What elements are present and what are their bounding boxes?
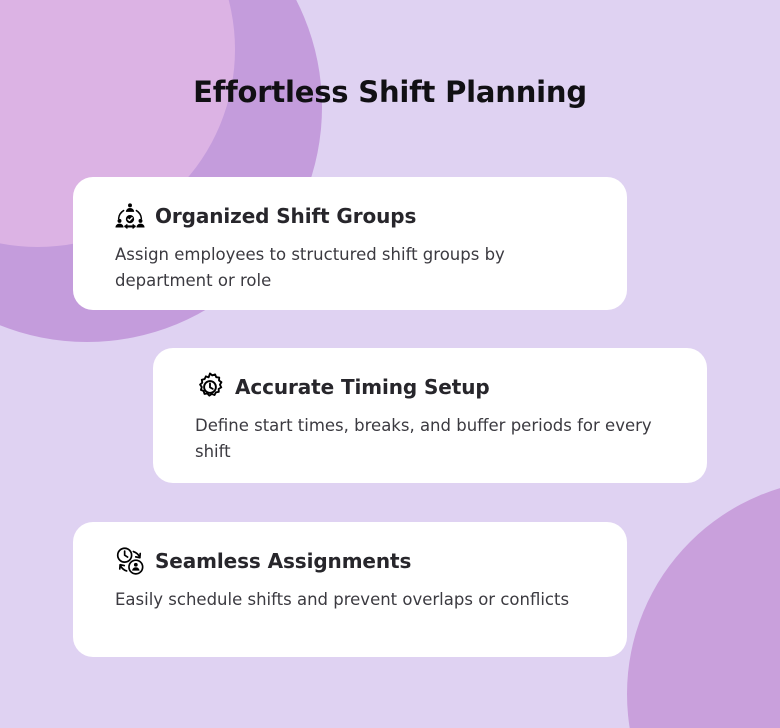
gear-clock-icon xyxy=(195,372,225,402)
feature-poster: Effortless Shift Planning xyxy=(0,0,780,728)
card-title: Seamless Assignments xyxy=(155,546,411,576)
feature-card-seamless-assignments: Seamless Assignments Easily schedule shi… xyxy=(73,522,627,657)
card-header: Accurate Timing Setup xyxy=(195,370,677,404)
card-description: Define start times, breaks, and buffer p… xyxy=(195,413,665,465)
card-title: Organized Shift Groups xyxy=(155,201,416,231)
feature-card-organized-shift-groups: Organized Shift Groups Assign employees … xyxy=(73,177,627,310)
page-title: Effortless Shift Planning xyxy=(0,70,780,114)
decor-circle-bottom-right xyxy=(627,479,780,728)
org-chart-team-check-icon xyxy=(115,201,145,231)
card-header: Seamless Assignments xyxy=(115,544,597,578)
card-description: Easily schedule shifts and prevent overl… xyxy=(115,587,585,613)
clock-user-rotation-icon xyxy=(115,546,145,576)
feature-card-accurate-timing-setup: Accurate Timing Setup Define start times… xyxy=(153,348,707,483)
card-description: Assign employees to structured shift gro… xyxy=(115,242,585,294)
card-title: Accurate Timing Setup xyxy=(235,372,490,402)
card-header: Organized Shift Groups xyxy=(115,199,597,233)
